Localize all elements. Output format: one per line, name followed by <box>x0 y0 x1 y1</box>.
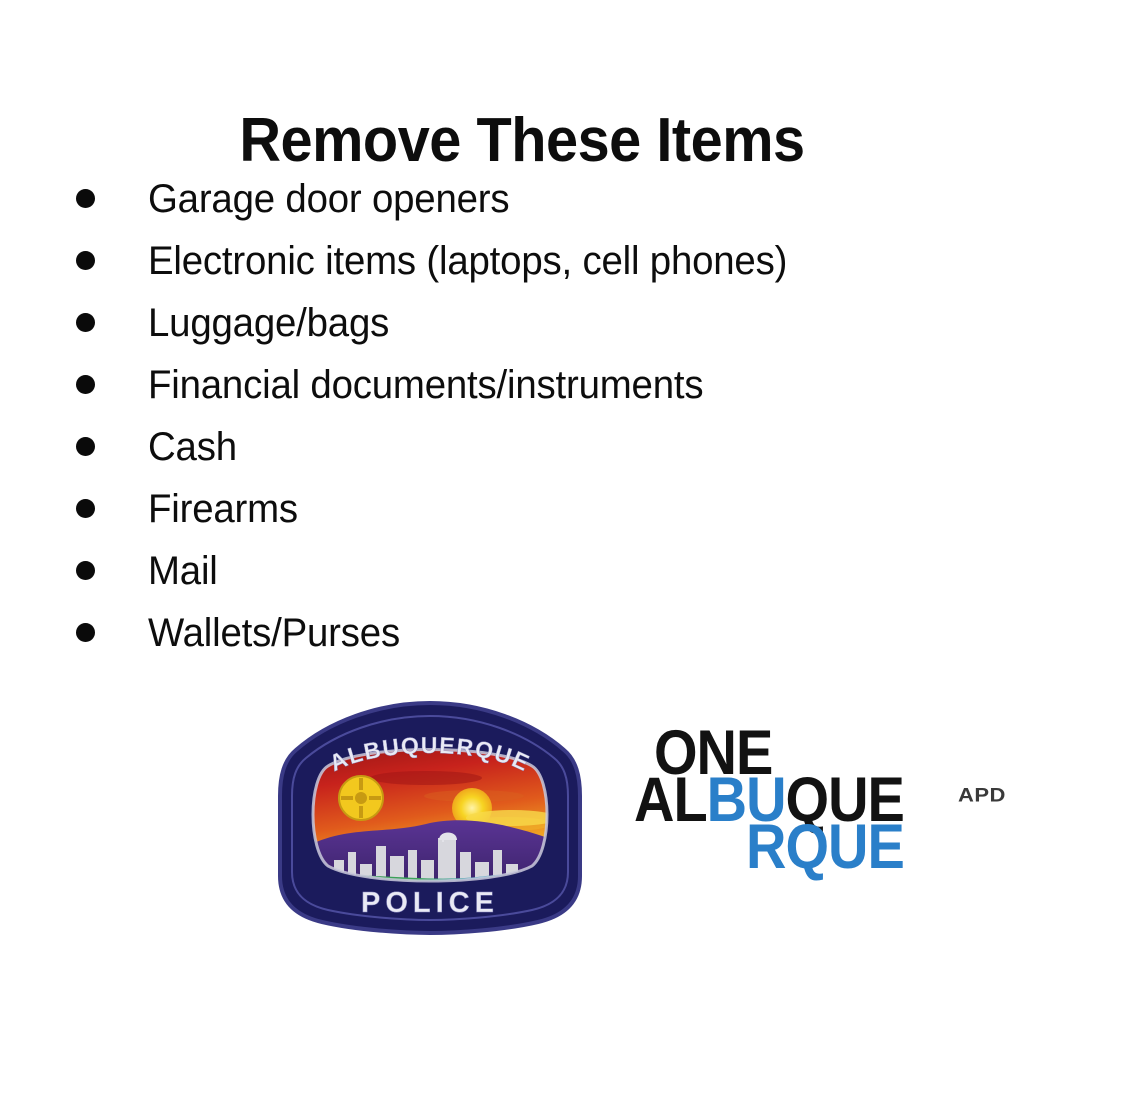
list-item: Garage door openers <box>0 168 1144 230</box>
remove-items-list: Garage door openers Electronic items (la… <box>0 168 1144 664</box>
list-item: Financial documents/instruments <box>0 354 1144 416</box>
list-item-label: Mail <box>148 551 218 591</box>
list-item-label: Garage door openers <box>148 179 509 219</box>
bullet-dot-icon <box>76 313 95 332</box>
bullet-dot-icon <box>76 623 95 642</box>
slide-canvas: Remove These Items Garage door openers E… <box>0 0 1144 1100</box>
list-item: Mail <box>0 540 1144 602</box>
logo-row: ALBUQUERQUE POLICE ONE ALBUQUE RQUE APD <box>0 698 1144 948</box>
list-item-label: Financial documents/instruments <box>148 365 703 405</box>
page-title: Remove These Items <box>37 108 1008 173</box>
bullet-dot-icon <box>76 561 95 580</box>
list-item-label: Luggage/bags <box>148 303 389 343</box>
one-albuquerque-wordmark: ONE ALBUQUE RQUE <box>634 726 944 882</box>
list-item-label: Wallets/Purses <box>148 613 400 653</box>
list-item-label: Electronic items (laptops, cell phones) <box>148 241 787 281</box>
list-item: Firearms <box>0 478 1144 540</box>
list-item: Electronic items (laptops, cell phones) <box>0 230 1144 292</box>
svg-text:POLICE: POLICE <box>361 887 499 919</box>
zia-sun-symbol-icon <box>339 776 383 820</box>
bullet-dot-icon <box>76 251 95 270</box>
albuquerque-police-badge-icon: ALBUQUERQUE POLICE <box>276 700 584 936</box>
wordmark-line-rque: RQUE <box>634 820 944 873</box>
bullet-dot-icon <box>76 375 95 394</box>
wordmark-rque: RQUE <box>746 811 904 882</box>
list-item-label: Firearms <box>148 489 298 529</box>
apd-abbreviation-label: APD <box>958 783 1006 806</box>
list-item-label: Cash <box>148 427 237 467</box>
list-item: Wallets/Purses <box>0 602 1144 664</box>
list-item: Luggage/bags <box>0 292 1144 354</box>
list-item: Cash <box>0 416 1144 478</box>
bullet-dot-icon <box>76 499 95 518</box>
bullet-dot-icon <box>76 189 95 208</box>
bullet-dot-icon <box>76 437 95 456</box>
